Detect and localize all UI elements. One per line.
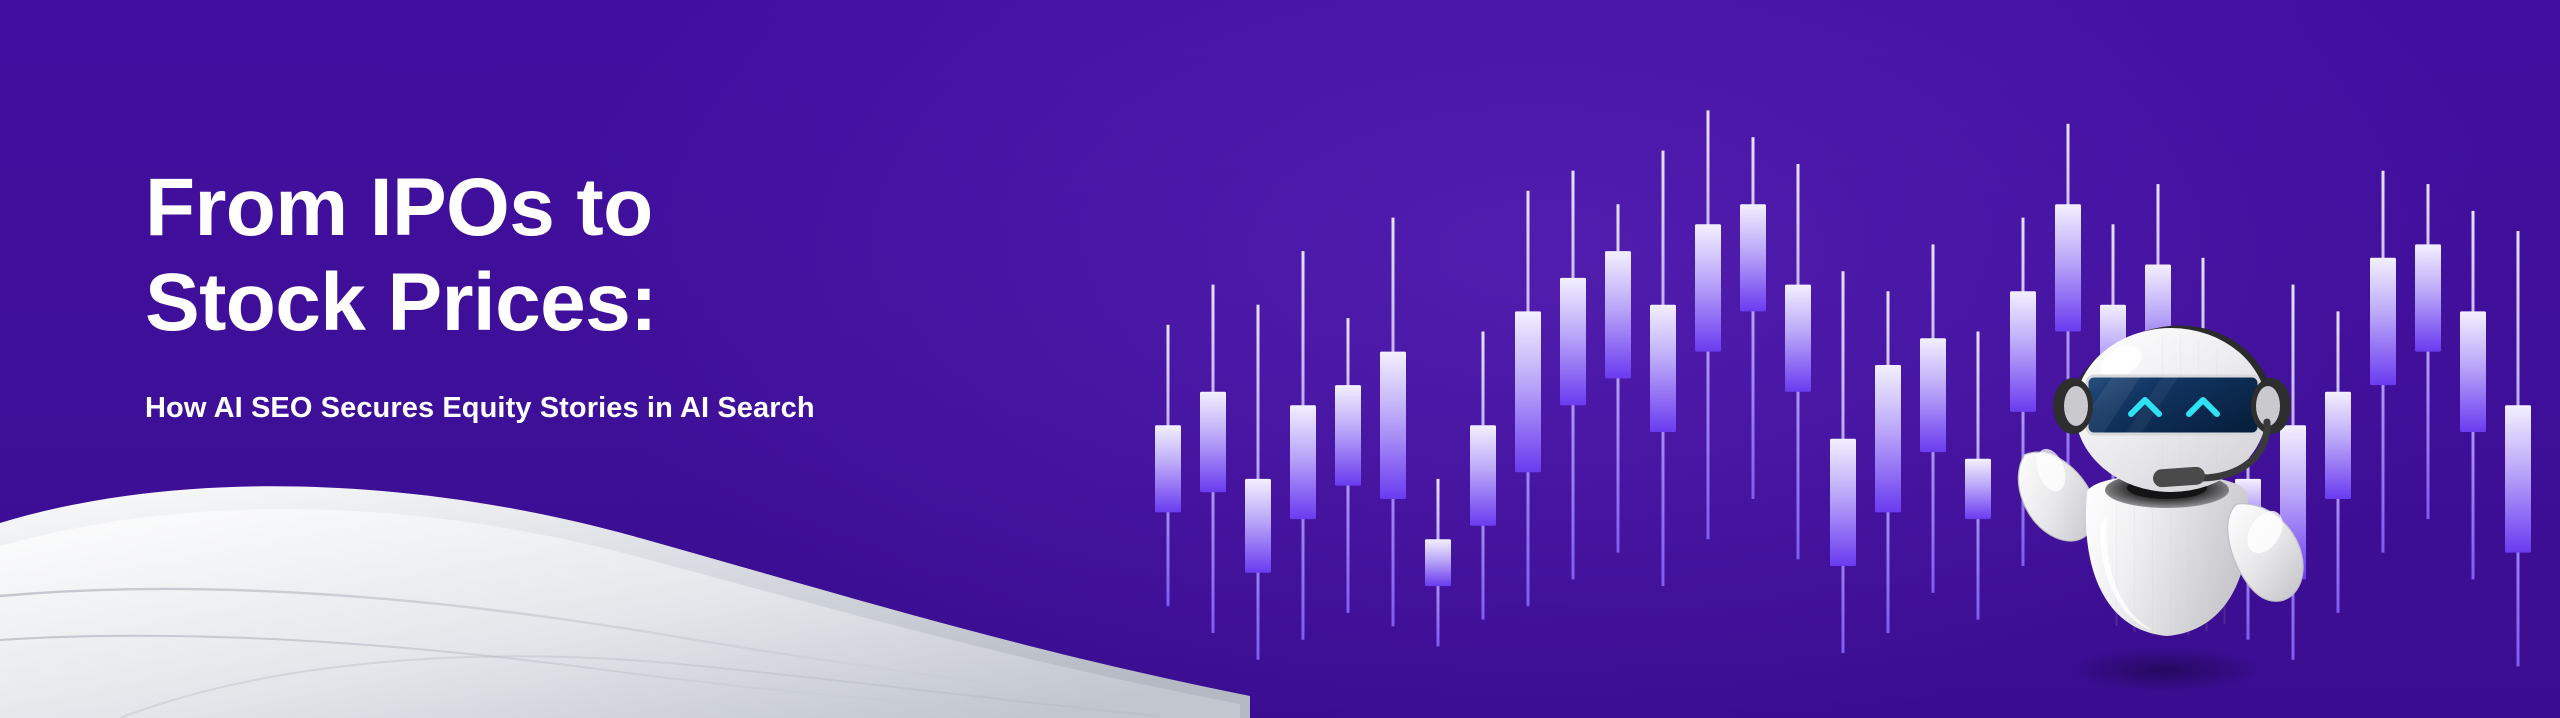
candle-body bbox=[1785, 285, 1811, 392]
candle-wick bbox=[1752, 137, 1755, 499]
candle-body bbox=[2460, 311, 2486, 432]
hero-banner: From IPOs to Stock Prices: How AI SEO Se… bbox=[0, 0, 2560, 718]
page-subtitle: How AI SEO Secures Equity Stories in AI … bbox=[145, 392, 1145, 425]
candle-body bbox=[1650, 305, 1676, 432]
candle-body bbox=[1830, 439, 1856, 566]
page-title-line-1: From IPOs to bbox=[145, 160, 1145, 255]
robot-visor bbox=[2087, 376, 2259, 434]
candle-body bbox=[1695, 224, 1721, 351]
robot-right-arm bbox=[2228, 504, 2303, 602]
page-title-line-2: Stock Prices: bbox=[145, 255, 1145, 350]
candle-body bbox=[1740, 204, 1766, 311]
ai-robot-mascot bbox=[1975, 318, 2375, 718]
hero-text-block: From IPOs to Stock Prices: How AI SEO Se… bbox=[145, 160, 1145, 425]
candle-body bbox=[1425, 539, 1451, 586]
candle-body bbox=[1560, 278, 1586, 405]
decorative-wave bbox=[0, 428, 1400, 718]
candle-body bbox=[2055, 204, 2081, 331]
candle-body bbox=[1920, 338, 1946, 452]
candle-body bbox=[1605, 251, 1631, 378]
candle-body bbox=[1470, 425, 1496, 526]
candle-body bbox=[2505, 405, 2531, 552]
candle-body bbox=[1515, 311, 1541, 472]
candle-body bbox=[1875, 365, 1901, 512]
candle-body bbox=[2415, 244, 2441, 351]
